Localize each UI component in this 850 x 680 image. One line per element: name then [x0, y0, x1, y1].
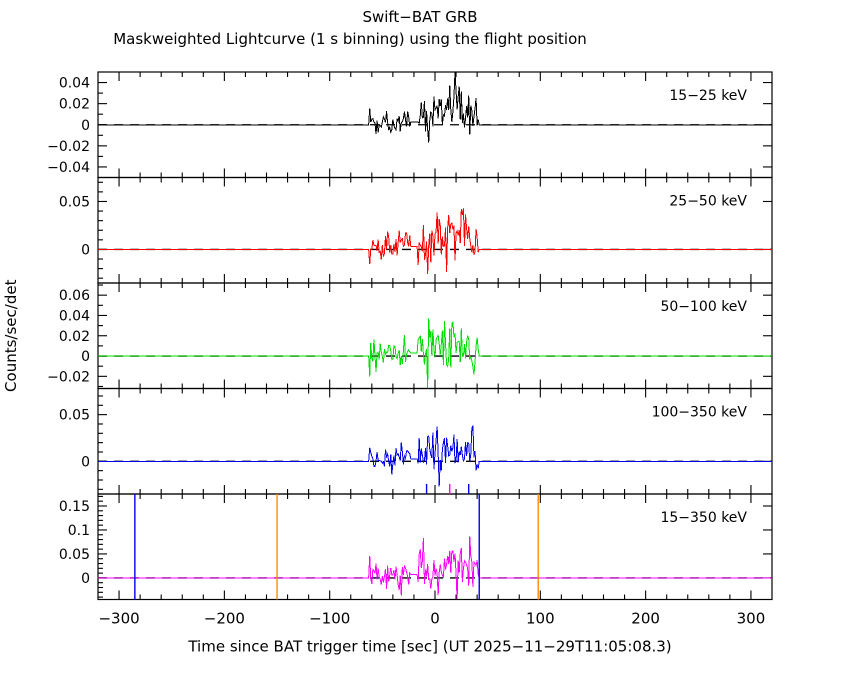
panel-100-350-lightcurve — [98, 426, 772, 487]
panel-15-25-yticklabel: −0.02 — [47, 139, 90, 155]
x-tick-label-4: 100 — [526, 610, 555, 628]
x-tick-label-3: 0 — [430, 610, 440, 628]
panel-25-50-yticklabel: 0.05 — [59, 194, 90, 210]
panel-100-350-yticklabel: 0 — [81, 454, 90, 470]
panel-50-100-yticklabel: 0.04 — [59, 308, 90, 324]
panel-15-350-yticklabel: 0 — [81, 571, 90, 587]
panel-15-25-yticklabel: −0.04 — [47, 160, 90, 176]
y-axis-label: Counts/sec/det — [2, 279, 20, 392]
x-tick-label-0: −300 — [98, 610, 139, 628]
panel-100-350-label: 100−350 keV — [652, 405, 748, 421]
panel-15-25-label: 15−25 keV — [669, 88, 747, 104]
panel-15-25-lightcurve — [98, 73, 772, 143]
panel-15-25-yticklabel: 0 — [81, 118, 90, 134]
x-tick-label-6: 300 — [737, 610, 766, 628]
x-tick-label-5: 200 — [631, 610, 660, 628]
x-tick-label-2: −100 — [309, 610, 350, 628]
figure-title-sub: Maskweighted Lightcurve (1 s binning) us… — [113, 30, 587, 48]
panel-15-350-lightcurve — [98, 537, 772, 599]
panel-15-350-yticklabel: 0.05 — [59, 547, 90, 563]
x-tick-label-1: −200 — [204, 610, 245, 628]
panel-25-50-label: 25−50 keV — [669, 194, 747, 210]
x-axis-label: Time since BAT trigger time [sec] (UT 20… — [187, 638, 671, 656]
panel-15-25-yticklabel: 0.04 — [59, 76, 90, 92]
panel-50-100-yticklabel: −0.02 — [47, 369, 90, 385]
panel-50-100-label: 50−100 keV — [660, 299, 747, 315]
panel-15-350-label: 15−350 keV — [660, 510, 747, 526]
lightcurve-plot: Swift−BAT GRBMaskweighted Lightcurve (1 … — [0, 0, 850, 680]
panel-50-100-yticklabel: 0 — [81, 349, 90, 365]
panel-50-100-yticklabel: 0.02 — [59, 329, 90, 345]
panel-50-100-lightcurve — [98, 319, 772, 388]
figure-title-main: Swift−BAT GRB — [362, 8, 477, 26]
panel-15-350-yticklabel: 0.15 — [59, 499, 90, 515]
panel-100-350-yticklabel: 0.05 — [59, 408, 90, 424]
lightcurve-figure: Swift−BAT GRBMaskweighted Lightcurve (1 … — [0, 0, 850, 680]
panel-50-100-yticklabel: 0.06 — [59, 288, 90, 304]
panel-25-50-yticklabel: 0 — [81, 242, 90, 258]
panel-15-25-yticklabel: 0.02 — [59, 97, 90, 113]
panel-15-350-yticklabel: 0.1 — [68, 523, 90, 539]
panel-25-50-lightcurve — [98, 208, 772, 274]
